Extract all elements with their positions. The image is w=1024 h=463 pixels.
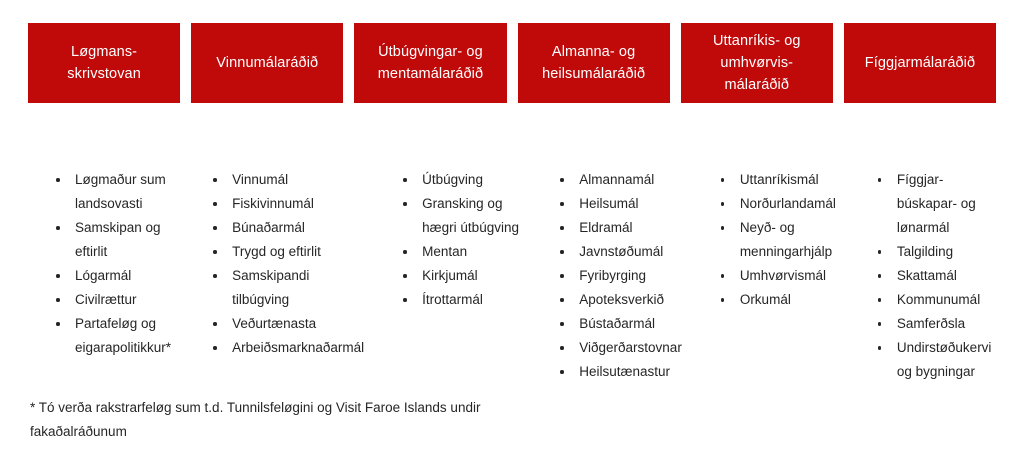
list-item: Orkumál [721, 288, 839, 312]
topic-column-almanna-og-heilsumalaradid: AlmannamálHeilsumálEldramálJavnstøðumálF… [532, 168, 682, 384]
list-item: Samferðsla [878, 312, 996, 336]
list-item: Lógarmál [56, 264, 174, 288]
list-item: Gransking og hægri útbúgving [403, 192, 521, 240]
department-box-label: Uttanríkis- og umhvørvis- málaráðið [713, 30, 801, 96]
topic-list: Løgmaður sum landsovastiSamskipan og eft… [28, 168, 174, 360]
list-item: Bústaðarmál [560, 312, 682, 336]
list-item: Trygd og eftirlit [213, 240, 364, 264]
list-item: Kirkjumál [403, 264, 521, 288]
list-item: Heilsumál [560, 192, 682, 216]
department-box-label: Almanna- og heilsumálaráðið [542, 41, 645, 85]
list-item: Uttanríkismál [721, 168, 839, 192]
topic-column-logmansskrivstovan: Løgmaður sum landsovastiSamskipan og eft… [28, 168, 174, 384]
org-chart: Løgmans- skrivstovanVinnumálaráðiðÚtbúgv… [28, 0, 996, 463]
department-box-almanna-og-heilsumalaradid[interactable]: Almanna- og heilsumálaráðið [518, 23, 670, 103]
topic-list: AlmannamálHeilsumálEldramálJavnstøðumálF… [532, 168, 682, 384]
list-item: Fiskivinnumál [213, 192, 364, 216]
list-item: Vinnumál [213, 168, 364, 192]
department-box-uttanrikis-og-umhvorvismalaradid[interactable]: Uttanríkis- og umhvørvis- málaráðið [681, 23, 833, 103]
list-item: Skattamál [878, 264, 996, 288]
list-item: Veðurtænasta [213, 312, 364, 336]
list-item: Samskipan og eftirlit [56, 216, 174, 264]
department-box-vinnumalaradid[interactable]: Vinnumálaráðið [191, 23, 343, 103]
department-box-label: Útbúgvingar- og mentamálaráðið [378, 41, 483, 85]
department-box-label: Fíggjarmálaráðið [865, 52, 975, 74]
list-item: Útbúgving [403, 168, 521, 192]
list-item: Almannamál [560, 168, 682, 192]
topic-column-utbugvingar-og-mentamalaradid: ÚtbúgvingGransking og hægri útbúgvingMen… [375, 168, 521, 384]
list-item: Civilrættur [56, 288, 174, 312]
topic-column-vinnumalaradid: VinnumálFiskivinnumálBúnaðarmálTrygd og … [185, 168, 364, 384]
topic-list: VinnumálFiskivinnumálBúnaðarmálTrygd og … [185, 168, 364, 360]
department-topic-lists-row: Løgmaður sum landsovastiSamskipan og eft… [28, 168, 996, 384]
department-header-row: Løgmans- skrivstovanVinnumálaráðiðÚtbúgv… [28, 23, 996, 103]
topic-list: ÚtbúgvingGransking og hægri útbúgvingMen… [375, 168, 521, 312]
list-item: Partafeløg og eigarapolitikkur* [56, 312, 174, 360]
list-item: Apoteksverkið [560, 288, 682, 312]
list-item: Mentan [403, 240, 521, 264]
topic-list: UttanríkismálNorðurlandamálNeyð- og menn… [693, 168, 839, 312]
list-item: Umhvørvismál [721, 264, 839, 288]
list-item: Ítrottarmál [403, 288, 521, 312]
department-box-label: Vinnumálaráðið [216, 52, 318, 74]
footnote: * Tó verða rakstrarfeløg sum t.d. Tunnil… [30, 396, 500, 444]
list-item: Norðurlandamál [721, 192, 839, 216]
list-item: Eldramál [560, 216, 682, 240]
department-box-figgjarmalaradid[interactable]: Fíggjarmálaráðið [844, 23, 996, 103]
topic-list: Fíggjar-búskapar- og lønarmálTalgildingS… [850, 168, 996, 384]
list-item: Fíggjar-búskapar- og lønarmál [878, 168, 996, 240]
department-box-utbugvingar-og-mentamalaradid[interactable]: Útbúgvingar- og mentamálaráðið [354, 23, 506, 103]
list-item: Talgilding [878, 240, 996, 264]
list-item: Heilsutænastur [560, 360, 682, 384]
list-item: Javnstøðumál [560, 240, 682, 264]
topic-column-figgjarmalaradid: Fíggjar-búskapar- og lønarmálTalgildingS… [850, 168, 996, 384]
list-item: Arbeiðsmarknaðarmál [213, 336, 364, 360]
list-item: Kommunumál [878, 288, 996, 312]
topic-column-uttanrikis-og-umhvorvismalaradid: UttanríkismálNorðurlandamálNeyð- og menn… [693, 168, 839, 384]
department-box-label: Løgmans- skrivstovan [67, 41, 141, 85]
list-item: Undirstøðukervi og bygningar [878, 336, 996, 384]
list-item: Búnaðarmál [213, 216, 364, 240]
list-item: Viðgerðarstovnar [560, 336, 682, 360]
list-item: Løgmaður sum landsovasti [56, 168, 174, 216]
list-item: Neyð- og menningarhjálp [721, 216, 839, 264]
list-item: Fyribyrging [560, 264, 682, 288]
department-box-logmansskrivstovan[interactable]: Løgmans- skrivstovan [28, 23, 180, 103]
list-item: Samskipandi tilbúgving [213, 264, 364, 312]
